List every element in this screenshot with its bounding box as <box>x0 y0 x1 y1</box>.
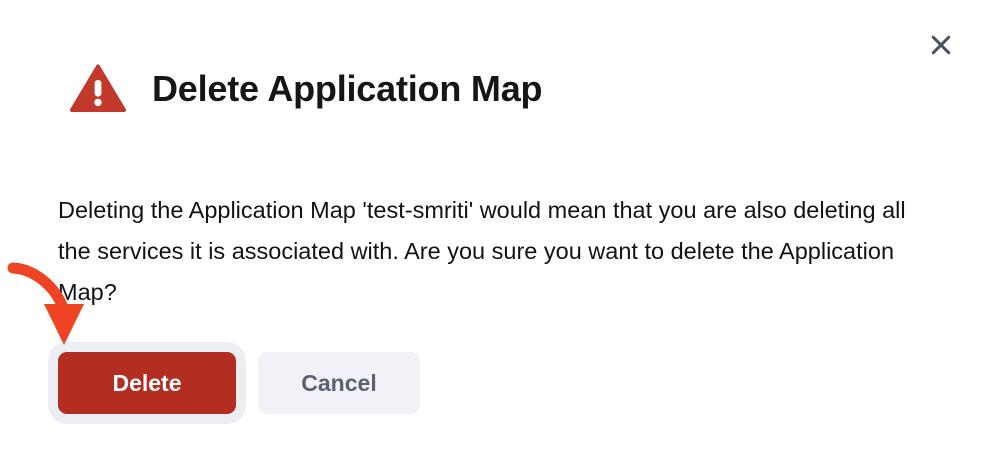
dialog-action-bar: Delete Cancel <box>58 352 420 414</box>
dialog-message: Deleting the Application Map 'test-smrit… <box>58 190 938 313</box>
dialog-header: Delete Application Map <box>70 64 542 113</box>
cancel-button[interactable]: Cancel <box>258 352 420 414</box>
delete-application-map-dialog: Delete Application Map Deleting the Appl… <box>0 0 984 475</box>
delete-button[interactable]: Delete <box>58 352 236 414</box>
close-icon <box>930 34 952 56</box>
dialog-title: Delete Application Map <box>152 71 542 107</box>
warning-triangle-icon <box>70 64 126 113</box>
close-dialog-button[interactable] <box>922 26 960 64</box>
